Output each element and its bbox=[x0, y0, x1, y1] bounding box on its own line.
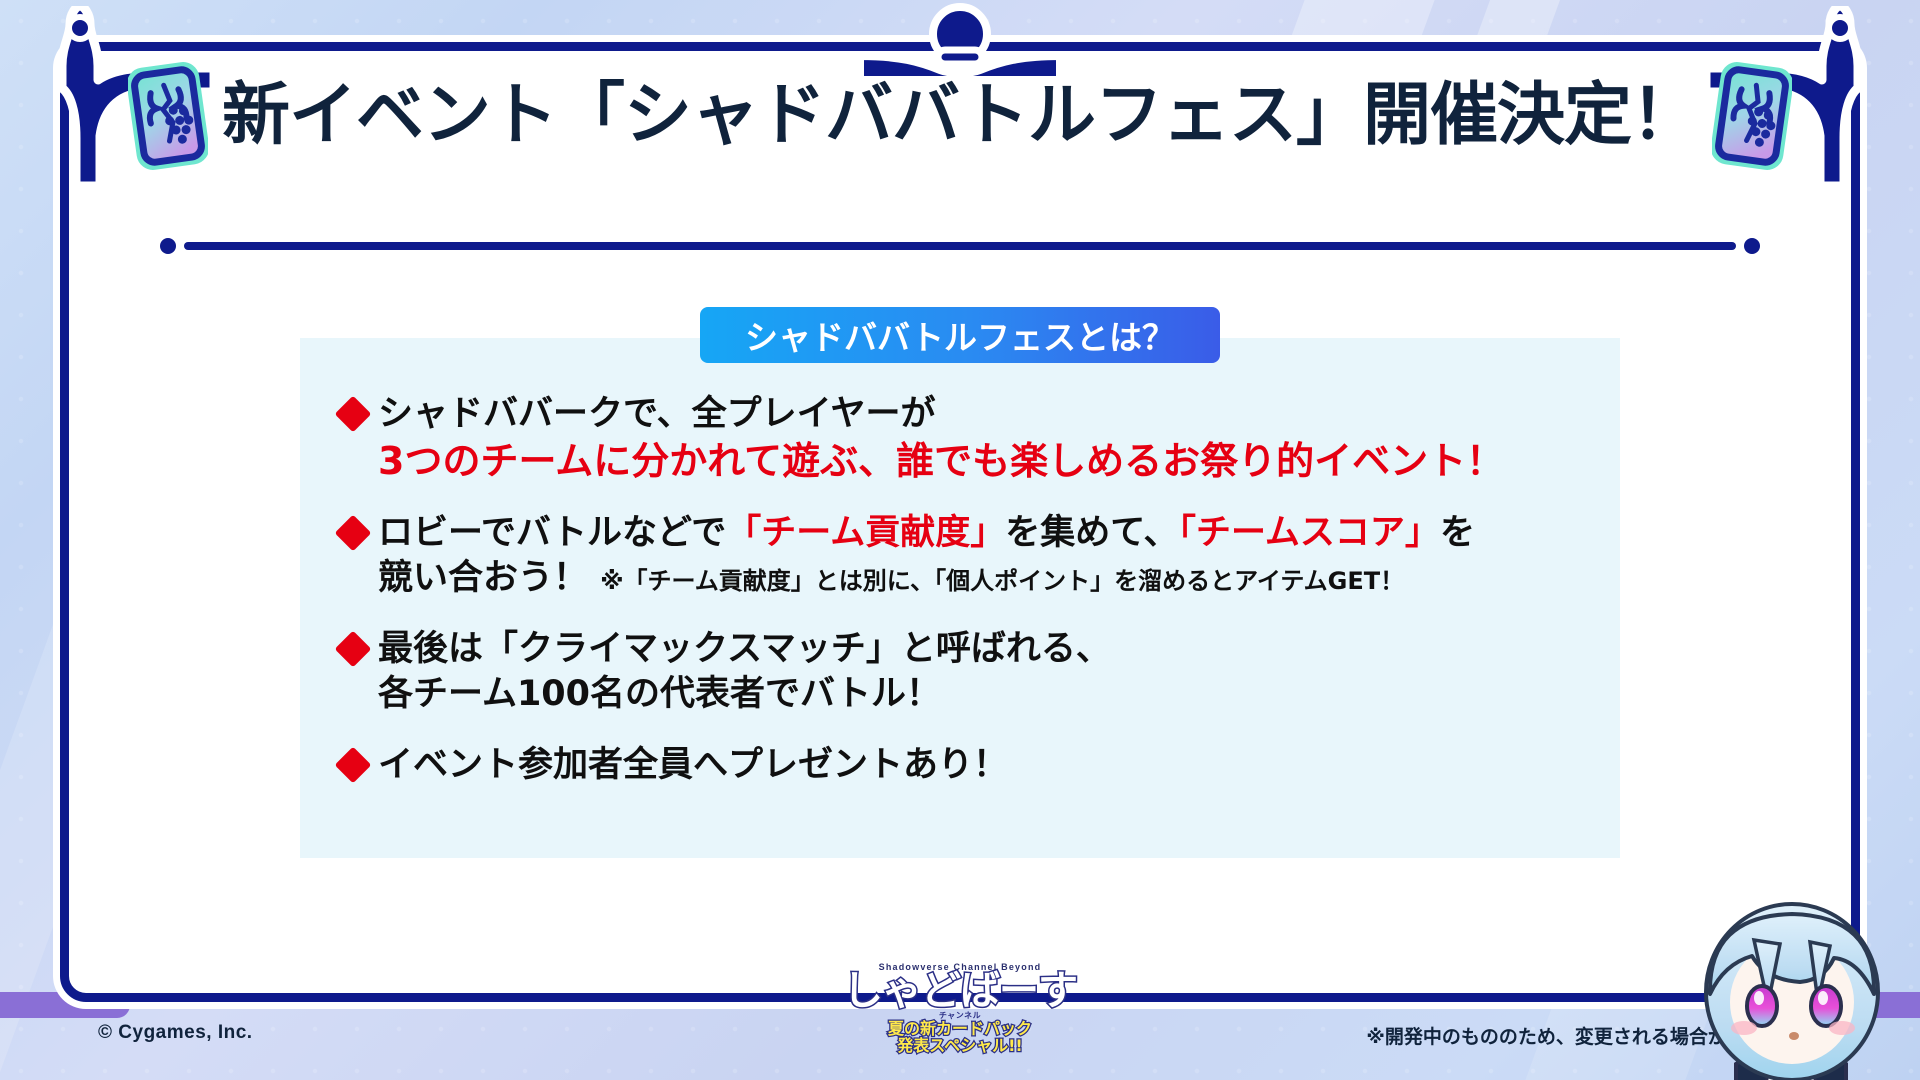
bullet-text-segment: 3つのチームに分かれて遊ぶ、誰でも楽しめるお祭り的イベント！ bbox=[378, 439, 1504, 483]
bullet-text-block: ロビーでバトルなどで「チーム貢献度」を集めて、「チームスコア」を競い合おう！ ※… bbox=[378, 511, 1600, 601]
section-banner-label: シャドババトルフェスとは？ bbox=[745, 311, 1175, 359]
bullet-text-block: 最後は「クライマックスマッチ」と呼ばれる、各チーム100名の代表者でバトル！ bbox=[378, 627, 1600, 717]
divider-dot-left bbox=[160, 238, 176, 254]
bullet-item: 最後は「クライマックスマッチ」と呼ばれる、各チーム100名の代表者でバトル！ bbox=[340, 627, 1600, 717]
bullet-diamond-icon bbox=[335, 746, 372, 783]
chibi-character-avatar bbox=[1676, 884, 1920, 1080]
divider-bar bbox=[184, 242, 1736, 250]
divider-dot-right bbox=[1744, 238, 1760, 254]
bullet-line: シャドババークで、全プレイヤーが bbox=[378, 392, 1600, 437]
bullet-diamond-icon bbox=[335, 631, 372, 668]
bullet-line: イベント参加者全員へプレゼントあり！ bbox=[378, 743, 1600, 788]
shadowverse-logo: Shadowverse Channel Beyond しゃどばーす チャンネル … bbox=[840, 962, 1080, 1074]
bullet-line: ロビーでバトルなどで「チーム貢献度」を集めて、「チームスコア」を bbox=[378, 511, 1600, 556]
bullet-text-segment: 最後は「クライマックスマッチ」と呼ばれる、 bbox=[378, 629, 1111, 669]
bullet-text-segment: ロビーでバトルなどで bbox=[378, 513, 726, 553]
copyright-text: © Cygames, Inc. bbox=[98, 1022, 253, 1044]
bullet-line: 最後は「クライマックスマッチ」と呼ばれる、 bbox=[378, 627, 1600, 672]
bullet-text-segment: 「チーム貢献度」 bbox=[726, 513, 1005, 553]
bullet-text-segment: ※「チーム貢献度」とは別に、「個人ポイント」を溜めるとアイテムGET！ bbox=[600, 567, 1404, 595]
bullet-list: シャドババークで、全プレイヤーが3つのチームに分かれて遊ぶ、誰でも楽しめるお祭り… bbox=[340, 392, 1600, 813]
bullet-item: シャドババークで、全プレイヤーが3つのチームに分かれて遊ぶ、誰でも楽しめるお祭り… bbox=[340, 392, 1600, 485]
bullet-line: 競い合おう！ ※「チーム貢献度」とは別に、「個人ポイント」を溜めるとアイテムGE… bbox=[378, 556, 1600, 601]
bullet-line: 各チーム100名の代表者でバトル！ bbox=[378, 672, 1600, 717]
page-title: 新イベント「シャドババトルフェス」開催決定！ bbox=[222, 82, 1698, 150]
bullet-diamond-icon bbox=[335, 396, 372, 433]
bullet-text-segment: 競い合おう！ bbox=[378, 558, 600, 598]
slide-root: 新イベント「シャドババトルフェス」開催決定！ bbox=[0, 0, 1920, 1080]
card-grape-icon bbox=[128, 61, 208, 171]
bullet-item: イベント参加者全員へプレゼントあり！ bbox=[340, 743, 1600, 788]
card-grape-icon bbox=[1712, 61, 1792, 171]
bullet-text-segment: を集めて、 bbox=[1005, 513, 1178, 553]
bullet-text-block: シャドババークで、全プレイヤーが3つのチームに分かれて遊ぶ、誰でも楽しめるお祭り… bbox=[378, 392, 1600, 485]
bullet-text-block: イベント参加者全員へプレゼントあり！ bbox=[378, 743, 1600, 788]
title-divider bbox=[160, 238, 1760, 254]
logo-subtitle-line2: 発表スペシャル!! bbox=[840, 1038, 1080, 1055]
logo-main-text: しゃどばーす bbox=[840, 972, 1080, 1010]
section-banner: シャドババトルフェスとは？ bbox=[700, 307, 1220, 363]
bullet-item: ロビーでバトルなどで「チーム貢献度」を集めて、「チームスコア」を競い合おう！ ※… bbox=[340, 511, 1600, 601]
title-row: 新イベント「シャドババトルフェス」開催決定！ bbox=[60, 46, 1860, 186]
bullet-text-segment: を bbox=[1440, 513, 1475, 553]
bullet-diamond-icon bbox=[335, 515, 372, 552]
bullet-text-segment: 「チームスコア」 bbox=[1178, 513, 1439, 553]
bullet-text-segment: イベント参加者全員へプレゼントあり！ bbox=[378, 745, 1008, 785]
bullet-text-segment: 各チーム100名の代表者でバトル！ bbox=[378, 674, 941, 714]
bullet-line: 3つのチームに分かれて遊ぶ、誰でも楽しめるお祭り的イベント！ bbox=[378, 437, 1600, 486]
bullet-text-segment: シャドババークで、全プレイヤーが bbox=[378, 394, 936, 434]
